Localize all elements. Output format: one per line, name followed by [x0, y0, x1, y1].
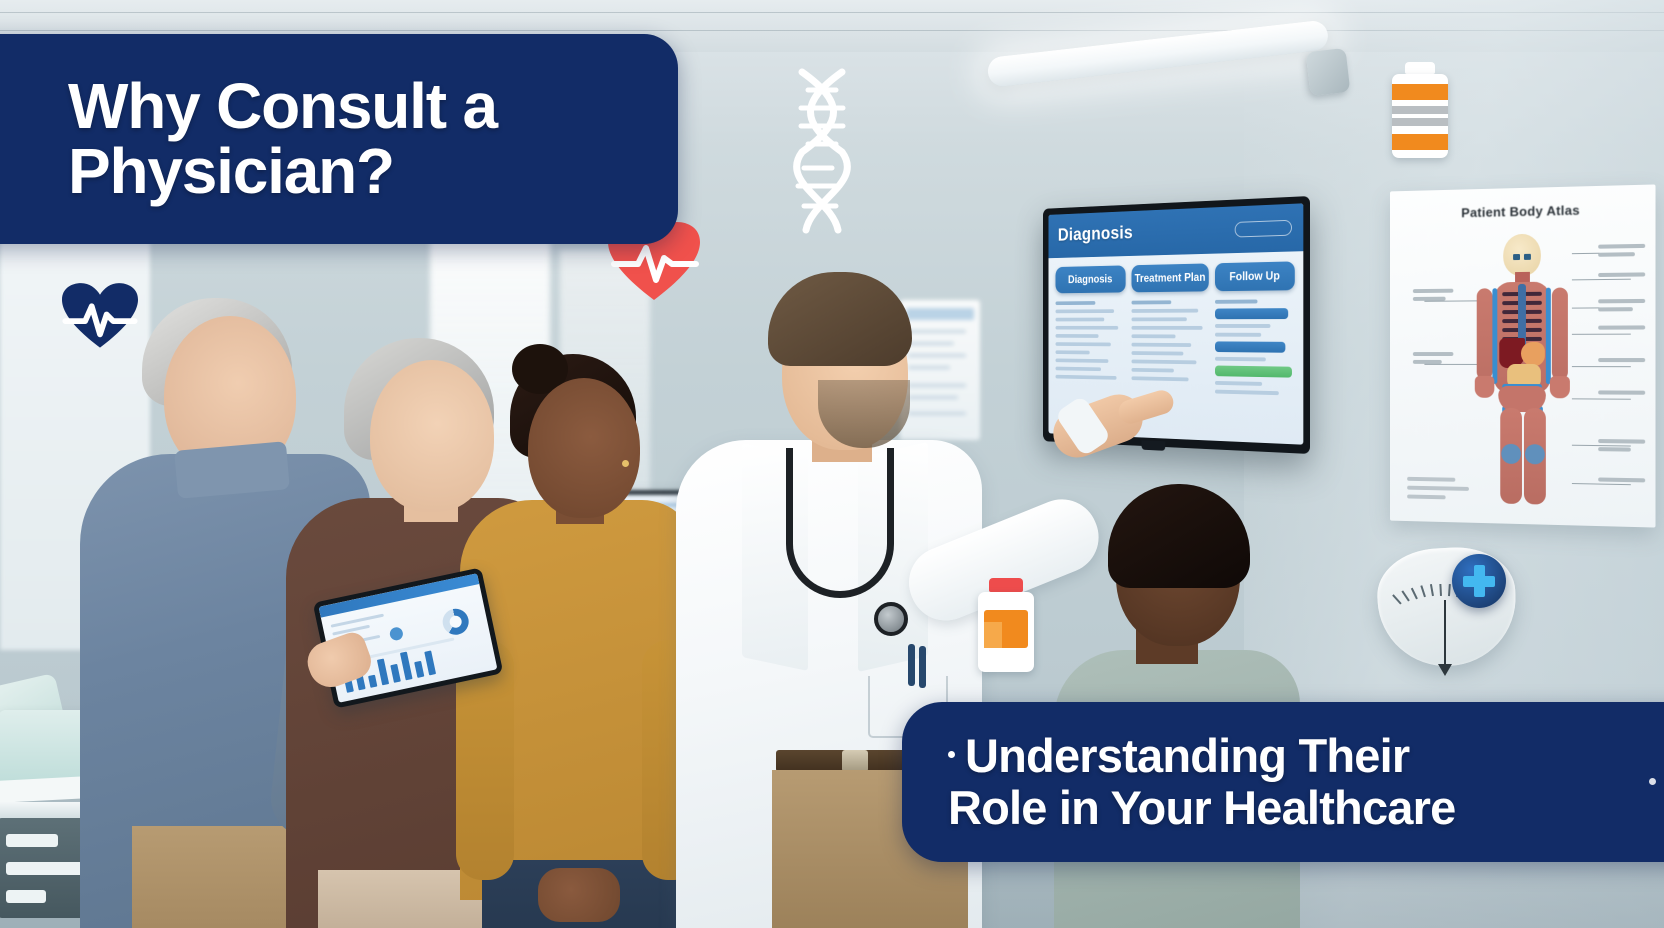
tv-chip-follow-up[interactable]: Follow Up	[1215, 261, 1295, 291]
ceiling-light-end-cap	[1306, 48, 1351, 96]
subheadline-line-1: Understanding Their	[948, 730, 1662, 782]
bullet-dot-icon	[948, 751, 955, 758]
anatomy-hand-right	[1550, 376, 1570, 398]
tv-column-follow-up: Follow Up	[1215, 261, 1295, 434]
tv-mount	[1142, 440, 1166, 451]
stethoscope-chestpiece	[874, 602, 908, 636]
gauge-needle	[1444, 600, 1446, 672]
anatomy-head	[1503, 234, 1541, 277]
anatomy-stomach	[1521, 342, 1545, 366]
headline-line-2: Physician?	[68, 139, 632, 204]
physician-hair	[768, 272, 912, 366]
pen-icon	[919, 646, 926, 688]
accent-dot-icon	[1649, 778, 1656, 785]
pen-icon	[908, 644, 915, 686]
anatomy-arm-left	[1477, 288, 1493, 380]
medical-cross-icon	[1452, 554, 1506, 608]
exam-table-slat	[6, 834, 58, 847]
pill-bottle-icon	[1392, 62, 1448, 158]
patient-woman-mustard	[460, 340, 708, 928]
dna-helix-icon	[786, 68, 858, 234]
anatomy-poster-title: Patient Body Atlas	[1390, 201, 1656, 222]
patient3-head	[528, 378, 640, 518]
headline-banner: Why Consult a Physician?	[0, 34, 678, 244]
anatomy-figure	[1473, 233, 1572, 507]
pill-bottle-icon	[978, 578, 1034, 672]
anatomy-vein	[1546, 288, 1551, 384]
gauge-pointer-arrow	[1438, 664, 1452, 676]
headline-line-1: Why Consult a	[68, 74, 632, 139]
tv-column-body	[1131, 300, 1209, 382]
subheadline-banner: Understanding Their Role in Your Healthc…	[902, 702, 1664, 862]
heart-pulse-icon	[62, 283, 138, 351]
physician-belt-buckle	[842, 750, 868, 772]
anatomy-poster: Patient Body Atlas	[1390, 184, 1656, 527]
patient3-earring	[622, 460, 629, 467]
stethoscope-tubing	[786, 448, 894, 598]
anatomy-organs	[1499, 338, 1547, 390]
tablet-donut-chart	[440, 606, 471, 637]
wall-scale-gauge	[1378, 548, 1516, 666]
tv-column-body	[1215, 299, 1295, 395]
patient3-clasped-hands	[538, 868, 620, 922]
subheadline-line-2: Role in Your Healthcare	[948, 782, 1662, 834]
tv-header-pill[interactable]	[1235, 220, 1292, 238]
infographic-canvas: Diagnosis Diagnosis	[0, 0, 1664, 928]
anatomy-vein	[1492, 288, 1497, 384]
patient1-collar	[174, 441, 290, 499]
tablet-metric-dot	[389, 626, 404, 641]
patient4-hair	[1108, 484, 1250, 588]
anatomy-knee-left	[1501, 444, 1521, 464]
exam-table-slat	[6, 890, 46, 903]
tv-chip-treatment-plan[interactable]: Treatment Plan	[1131, 263, 1209, 292]
anatomy-arm-right	[1552, 287, 1568, 380]
subheadline-line-1-text: Understanding Their	[965, 729, 1409, 782]
tv-header-title: Diagnosis	[1058, 223, 1133, 246]
anatomy-hand-left	[1475, 376, 1495, 398]
anatomy-poster-footnotes	[1407, 477, 1469, 505]
anatomy-knee-right	[1525, 444, 1545, 464]
